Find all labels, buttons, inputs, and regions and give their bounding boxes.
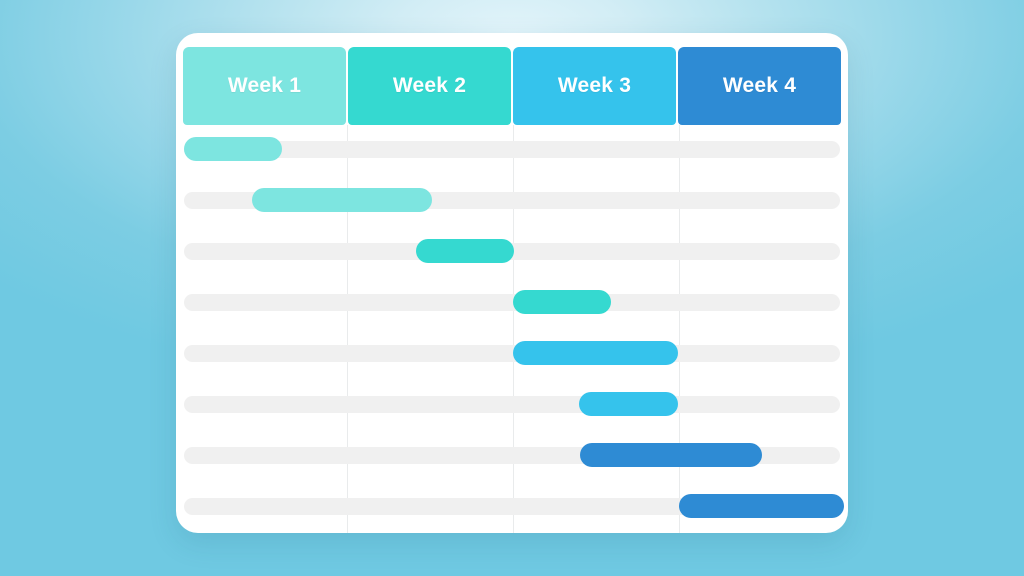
gantt-task-bar[interactable]	[513, 341, 678, 365]
gantt-row	[176, 380, 848, 429]
gantt-row-track	[184, 294, 840, 311]
week-header-2[interactable]: Week 2	[348, 47, 511, 125]
gantt-task-bar[interactable]	[184, 137, 282, 161]
gantt-task-bar[interactable]	[580, 443, 762, 467]
gantt-chart-card: Week 1Week 2Week 3Week 4	[176, 33, 848, 533]
gantt-row-track	[184, 141, 840, 158]
gantt-task-bar[interactable]	[252, 188, 432, 212]
week-header-label: Week 4	[723, 74, 796, 98]
week-header-label: Week 3	[558, 74, 631, 98]
gantt-row	[176, 482, 848, 531]
gantt-rows	[176, 125, 848, 533]
week-header-row: Week 1Week 2Week 3Week 4	[182, 47, 842, 125]
gantt-row	[176, 278, 848, 327]
gantt-row	[176, 176, 848, 225]
gantt-task-bar[interactable]	[579, 392, 678, 416]
gantt-chart-background: Week 1Week 2Week 3Week 4	[0, 0, 1024, 576]
gantt-task-bar[interactable]	[679, 494, 844, 518]
week-header-1[interactable]: Week 1	[183, 47, 346, 125]
week-header-4[interactable]: Week 4	[678, 47, 841, 125]
gantt-task-bar[interactable]	[416, 239, 514, 263]
gantt-row-track	[184, 345, 840, 362]
gantt-row-track	[184, 396, 840, 413]
gantt-row	[176, 329, 848, 378]
gantt-row	[176, 431, 848, 480]
gantt-task-bar[interactable]	[513, 290, 611, 314]
week-header-label: Week 2	[393, 74, 466, 98]
week-header-label: Week 1	[228, 74, 301, 98]
gantt-row	[176, 125, 848, 174]
week-header-3[interactable]: Week 3	[513, 47, 676, 125]
gantt-row	[176, 227, 848, 276]
